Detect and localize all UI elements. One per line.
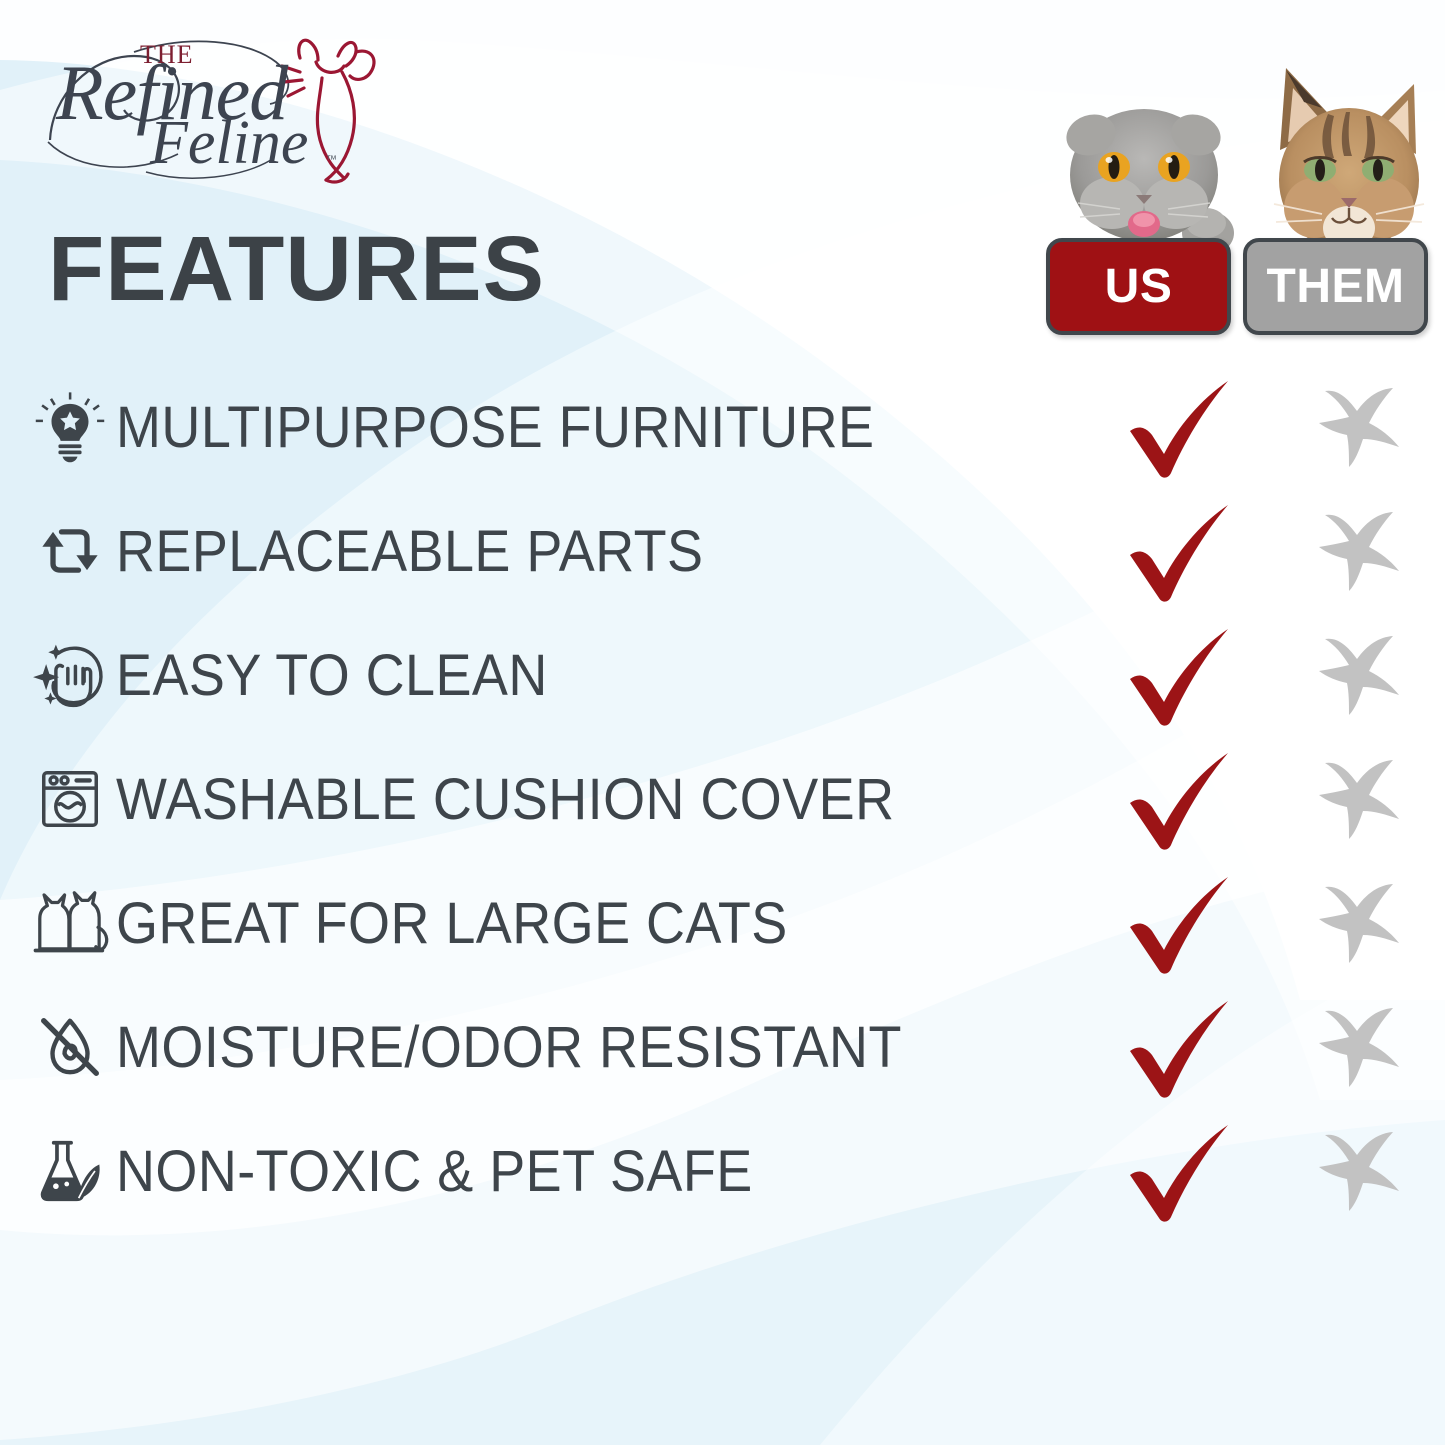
us-check-icon: [1120, 1116, 1240, 1226]
hand-wipe-sparkle-icon: [24, 635, 116, 715]
comparison-badges: US THEM: [1046, 238, 1428, 335]
no-water-drop-icon: [24, 1007, 116, 1087]
feature-row: WASHABLE CUSHION COVER: [24, 737, 1424, 861]
them-cross-icon: [1300, 620, 1420, 730]
flask-leaf-icon: [24, 1131, 116, 1211]
badge-them[interactable]: THEM: [1243, 238, 1428, 335]
logo-trademark: ™: [326, 154, 337, 166]
us-check-icon: [1120, 992, 1240, 1102]
them-cross-icon: [1300, 496, 1420, 606]
us-check-icon: [1120, 744, 1240, 854]
us-check-icon: [1120, 868, 1240, 978]
feature-row: REPLACEABLE PARTS: [24, 489, 1424, 613]
them-cross-icon: [1300, 868, 1420, 978]
feature-label: WASHABLE CUSHION COVER: [116, 766, 895, 833]
feature-row: NON-TOXIC & PET SAFE: [24, 1109, 1424, 1233]
them-cross-icon: [1300, 372, 1420, 482]
feature-label: NON-TOXIC & PET SAFE: [116, 1138, 753, 1205]
logo-feline-text: Feline: [150, 108, 308, 179]
feature-label: REPLACEABLE PARTS: [116, 518, 703, 585]
them-cross-icon: [1300, 1116, 1420, 1226]
replace-arrows-icon: [24, 511, 116, 591]
two-cats-icon: [24, 883, 116, 963]
them-cross-icon: [1300, 744, 1420, 854]
grey-scottish-fold-cat-photo: [1056, 83, 1256, 263]
us-check-icon: [1120, 372, 1240, 482]
feature-label: GREAT FOR LARGE CATS: [116, 890, 788, 957]
page-title: FEATURES: [48, 223, 545, 315]
features-comparison-graphic: THE Refined Feline ™: [0, 0, 1445, 1445]
feature-row: MULTIPURPOSE FURNITURE: [24, 365, 1424, 489]
us-check-icon: [1120, 620, 1240, 730]
them-cross-icon: [1300, 992, 1420, 1102]
feature-row: MOISTURE/ODOR RESISTANT: [24, 985, 1424, 1109]
badge-us[interactable]: US: [1046, 238, 1231, 335]
brown-tabby-cat-photo: [1264, 58, 1434, 263]
brand-logo: THE Refined Feline ™: [38, 22, 378, 187]
features-list: MULTIPURPOSE FURNITURE: [24, 365, 1424, 1233]
washing-machine-icon: [24, 759, 116, 839]
lightbulb-star-icon: [24, 387, 116, 467]
feature-label: EASY TO CLEAN: [116, 642, 548, 709]
comparison-header: US THEM: [1046, 45, 1445, 335]
feature-label: MULTIPURPOSE FURNITURE: [116, 394, 874, 461]
us-check-icon: [1120, 496, 1240, 606]
feature-label: MOISTURE/ODOR RESISTANT: [116, 1014, 902, 1081]
feature-row: EASY TO CLEAN: [24, 613, 1424, 737]
feature-row: GREAT FOR LARGE CATS: [24, 861, 1424, 985]
